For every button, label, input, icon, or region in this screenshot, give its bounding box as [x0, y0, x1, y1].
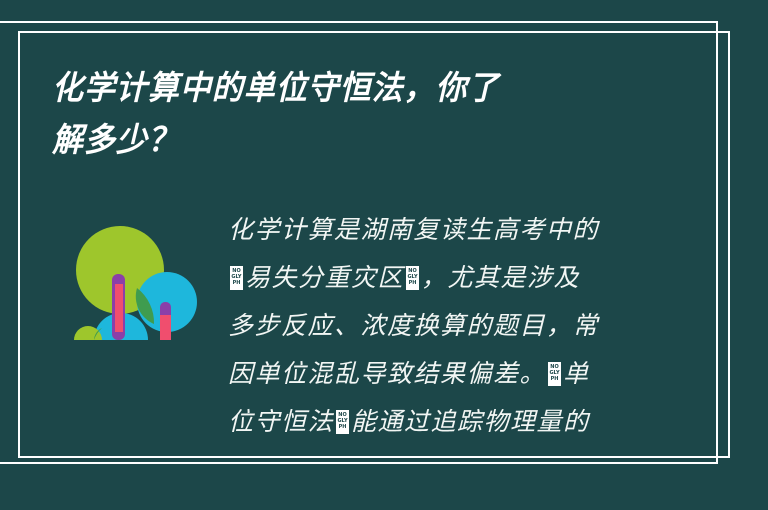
body-line: 因单位混乱导致结果偏差。NOGLYPH单: [228, 350, 658, 398]
body-text-segment: ，尤其是涉及: [421, 263, 580, 292]
body-line: 位守恒法NOGLYPH能通过追踪物理量的: [228, 398, 658, 446]
body-line: 化学计算是湖南复读生高考中的: [228, 206, 658, 254]
tall-trunk: [112, 274, 125, 340]
body-text-segment: 因单位混乱导致结果偏差。: [228, 359, 546, 388]
body-line: 多步反应、浓度换算的题目，常: [228, 302, 658, 350]
body-line: NOGLYPH易失分重灾区NOGLYPH，尤其是涉及: [228, 254, 658, 302]
missing-glyph-box: NOGLYPH: [406, 266, 419, 290]
missing-glyph-box: NOGLYPH: [336, 410, 349, 434]
body-text-segment: 单: [563, 359, 590, 388]
article-card: 化学计算中的单位守恒法，你了 解多少？: [0, 0, 768, 510]
body-text-segment: 化学计算是湖南复读生高考中的: [228, 215, 599, 244]
body-text-segment: 多步反应、浓度换算的题目，常: [228, 311, 599, 340]
page-title: 化学计算中的单位守恒法，你了 解多少？: [52, 62, 672, 166]
page-title-line-1: 化学计算中的单位守恒法，你了: [52, 62, 635, 114]
article-body: 化学计算是湖南复读生高考中的 NOGLYPH易失分重灾区NOGLYPH，尤其是涉…: [228, 206, 658, 446]
page-title-line-2: 解多少？: [52, 114, 635, 166]
missing-glyph-box: NOGLYPH: [548, 362, 561, 386]
body-text-segment: 位守恒法: [228, 407, 334, 436]
short-trunk: [160, 302, 171, 340]
missing-glyph-box: NOGLYPH: [230, 266, 243, 290]
trees-illustration: [62, 212, 202, 352]
body-text-segment: 易失分重灾区: [245, 263, 404, 292]
body-text-segment: 能通过追踪物理量的: [351, 407, 590, 436]
